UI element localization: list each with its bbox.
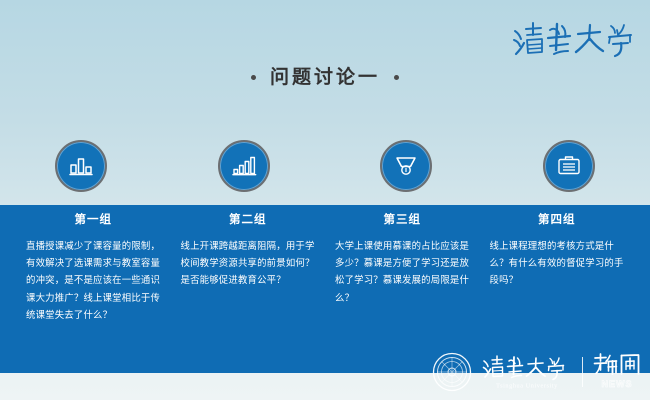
tsinghua-university-wordmark xyxy=(510,18,636,62)
footer-divider xyxy=(582,357,583,387)
svg-text:Tsinghua University: Tsinghua University xyxy=(496,383,558,390)
group-icon-circle-3[interactable] xyxy=(380,140,432,192)
bar-chart-icon xyxy=(67,152,95,180)
group-icon-slot-3 xyxy=(325,140,488,192)
slide-title-row: 问题讨论一 xyxy=(0,68,650,87)
svg-text:NEWS: NEWS xyxy=(602,379,633,389)
group-icon-circle-4[interactable] xyxy=(543,140,595,192)
title-left-dot-icon xyxy=(251,75,256,80)
group-body-2: 线上开课跨越距离阻隔，用于学校间教学资源共享的前景如何？是否能够促进教育公平？ xyxy=(181,239,316,291)
page-title: 问题讨论一 xyxy=(270,68,380,87)
medal-award-icon xyxy=(392,152,420,180)
group-title-1: 第一组 xyxy=(75,215,113,227)
group-title-4: 第四组 xyxy=(538,215,576,227)
group-title-2: 第二组 xyxy=(229,215,267,227)
footer-university-mark: Tsinghua University xyxy=(481,353,573,391)
footer: Tsinghua University xyxy=(0,348,650,400)
briefcase-icon xyxy=(555,152,583,180)
footer-news-mark: NEWS xyxy=(592,352,642,392)
group-icon-circle-2[interactable] xyxy=(218,140,270,192)
group-body-4: 线上课程理想的考核方式是什么？有什么有效的督促学习的手段吗？ xyxy=(490,239,625,291)
group-icon-slot-1 xyxy=(0,140,163,192)
group-title-3: 第三组 xyxy=(384,215,422,227)
tsinghua-seal-icon xyxy=(432,352,472,392)
group-icon-slot-4 xyxy=(488,140,650,192)
group-icon-slot-2 xyxy=(163,140,326,192)
group-body-1: 直播授课减少了课容量的限制，有效解决了选课需求与教室容量的冲突，是不是应该在一些… xyxy=(26,239,161,326)
group-icon-circle-1[interactable] xyxy=(55,140,107,192)
group-body-3: 大学上课使用慕课的占比应该是多少？慕课是方便了学习还是放松了学习？慕课发展的局限… xyxy=(335,239,470,309)
growth-chart-icon xyxy=(230,152,258,180)
footer-brand-lockup: Tsinghua University xyxy=(432,352,642,392)
slide-canvas: 问题讨论一 xyxy=(0,0,650,400)
title-right-dot-icon xyxy=(394,75,399,80)
group-icon-row xyxy=(0,140,650,192)
